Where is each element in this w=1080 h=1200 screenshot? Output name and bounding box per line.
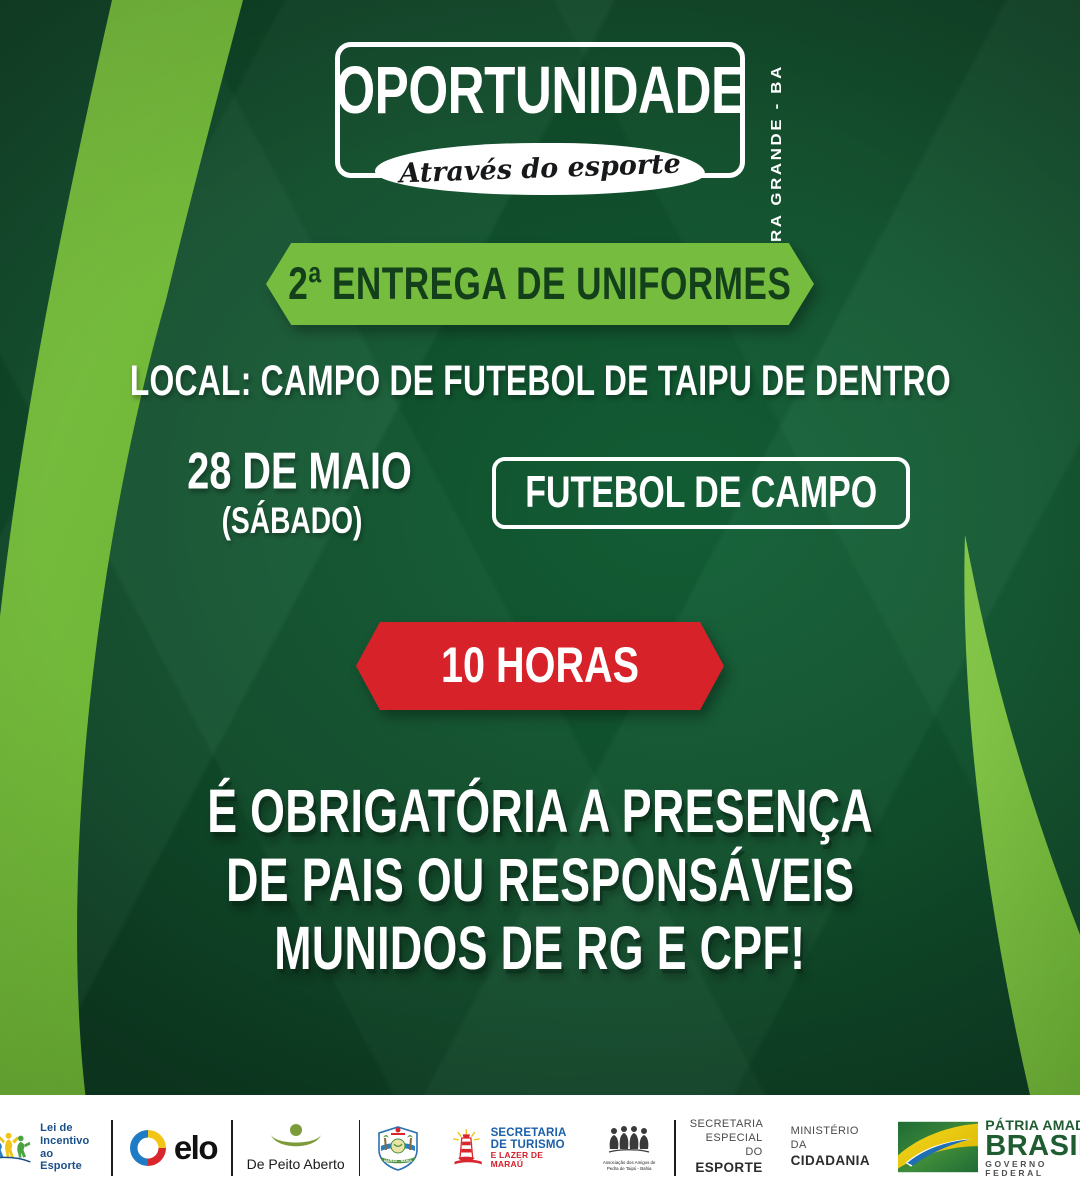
poster: OPORTUNIDADE Através do esporte BARRA GR… <box>0 0 1080 1200</box>
event-date-weekday: (SÁBADO) <box>172 504 412 536</box>
secretaria-turismo-line-2: DE TURISMO <box>491 1139 571 1151</box>
event-date-main: 28 DE MAIO <box>172 448 412 493</box>
brasil-line-2: BRASIL <box>985 1132 1080 1160</box>
secretaria-esporte-line-1: SECRETARIA ESPECIAL DO <box>690 1118 763 1159</box>
secretaria-esporte-line-2: ESPORTE <box>690 1160 763 1177</box>
ministerio-line-2: CIDADANIA <box>791 1153 870 1170</box>
warning-line-3: MUNIDOS DE RG E CPF! <box>0 915 1080 984</box>
event-title-banner: 2ª ENTREGA DE UNIFORMES <box>266 243 814 325</box>
sponsor-associacao-taipu: Associação dos Amigos de Pedra de Taipú … <box>584 1117 674 1179</box>
sponsor-ministerio-da-cidadania: MINISTÉRIO DA CIDADANIA <box>777 1117 884 1179</box>
brasil-flag-icon <box>898 1120 978 1174</box>
banner-label: 2ª ENTREGA DE UNIFORMES <box>266 243 814 325</box>
marau-caption: MARAÚ - BAHIA <box>384 1158 412 1163</box>
logo-frame: OPORTUNIDADE Através do esporte <box>335 42 745 178</box>
sponsor-de-peito-aberto: De Peito Aberto <box>233 1117 359 1179</box>
ministerio-line-1: MINISTÉRIO DA <box>791 1125 870 1153</box>
sponsor-brasao-marau: MARAÚ - BAHIA <box>360 1117 436 1179</box>
elo-wordmark: elo <box>174 1131 217 1164</box>
event-time-badge: 10 HORAS <box>356 622 724 710</box>
lei-line-2: Incentivo ao <box>40 1135 97 1161</box>
event-sport-box: FUTEBOL DE CAMPO <box>492 457 910 529</box>
lei-incentivo-text: Lei de Incentivo ao Esporte <box>40 1122 97 1174</box>
marau-coat-of-arms-icon: MARAÚ - BAHIA <box>374 1124 422 1172</box>
secretaria-turismo-text: SECRETARIA DE TURISMO E LAZER DE MARAÚ <box>491 1127 571 1169</box>
event-sport-label: FUTEBOL DE CAMPO <box>499 471 903 515</box>
logo-brush-stroke: Através do esporte <box>375 143 705 195</box>
event-time-label: 10 HORAS <box>356 622 724 710</box>
sponsor-elo: elo <box>113 1117 231 1179</box>
sponsor-secretaria-turismo-marau: SECRETARIA DE TURISMO E LAZER DE MARAÚ <box>436 1117 584 1179</box>
lei-incentivo-figures-icon <box>0 1126 32 1170</box>
elo-ring-icon <box>127 1127 169 1169</box>
sponsor-lei-de-incentivo-ao-esporte: Lei de Incentivo ao Esporte <box>0 1117 111 1179</box>
lei-line-3: Esporte <box>40 1160 97 1173</box>
logo-title: OPORTUNIDADE <box>320 63 760 118</box>
warning-message: É OBRIGATÓRIA A PRESENÇA DE PAIS OU RESP… <box>0 778 1080 984</box>
associacao-caption: Associação dos Amigos de Pedra de Taipú … <box>598 1160 660 1171</box>
brasil-line-3: GOVERNO FEDERAL <box>985 1160 1080 1177</box>
sponsor-footer: Lei de Incentivo ao Esporte elo <box>0 1095 1080 1200</box>
de-peito-aberto-icon <box>267 1123 325 1153</box>
warning-line-1: É OBRIGATÓRIA A PRESENÇA <box>0 778 1080 847</box>
brasil-wordmark: PÁTRIA AMADA BRASIL GOVERNO FEDERAL <box>985 1118 1080 1178</box>
sponsor-secretaria-especial-esporte: SECRETARIA ESPECIAL DO ESPORTE <box>676 1117 777 1179</box>
lighthouse-icon <box>450 1126 486 1170</box>
brand-logo: OPORTUNIDADE Através do esporte BARRA GR… <box>0 42 1080 178</box>
secretaria-turismo-line-1: SECRETARIA <box>491 1127 571 1139</box>
sponsor-patria-amada-brasil: PÁTRIA AMADA BRASIL GOVERNO FEDERAL <box>884 1117 1080 1179</box>
event-location: LOCAL: CAMPO DE FUTEBOL DE TAIPU DE DENT… <box>0 360 1080 402</box>
secretaria-turismo-line-3: E LAZER DE MARAÚ <box>491 1151 571 1169</box>
associacao-figures-icon <box>606 1124 652 1158</box>
lei-line-1: Lei de <box>40 1122 97 1135</box>
event-date: 28 DE MAIO (SÁBADO) <box>172 448 412 536</box>
warning-line-2: DE PAIS OU RESPONSÁVEIS <box>0 847 1080 916</box>
de-peito-aberto-wordmark: De Peito Aberto <box>247 1156 345 1172</box>
